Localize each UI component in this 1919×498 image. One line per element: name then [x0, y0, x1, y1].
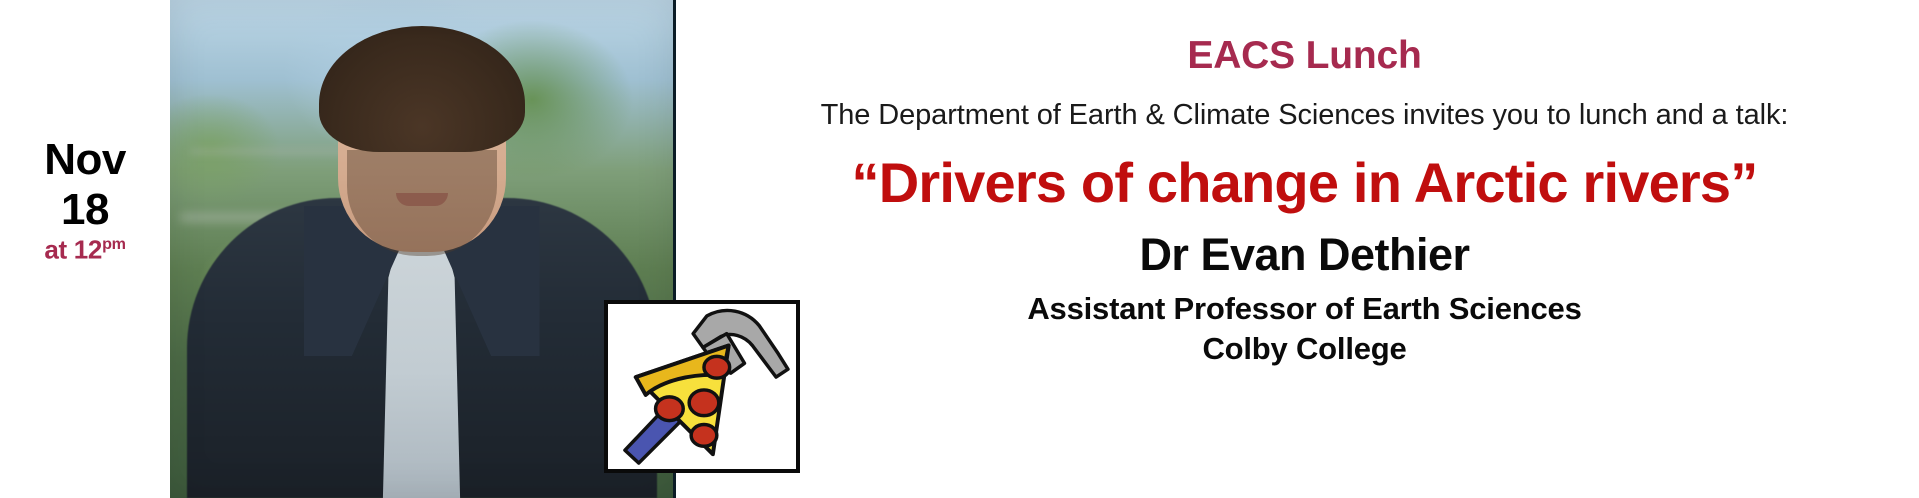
- event-time-meridiem: pm: [102, 235, 126, 253]
- speaker-photo: [170, 0, 676, 498]
- event-month: Nov: [0, 138, 170, 182]
- pepperoni-icon: [656, 397, 684, 421]
- speaker-name: Dr Evan Dethier: [690, 229, 1919, 281]
- event-time-value: at 12: [44, 235, 102, 265]
- event-poster: Nov 18 at 12pm: [0, 0, 1919, 498]
- poster-text-column: EACS Lunch The Department of Earth & Cli…: [690, 0, 1919, 498]
- event-series-title: EACS Lunch: [690, 34, 1919, 78]
- talk-title: “Drivers of change in Arctic rivers”: [690, 150, 1919, 215]
- event-day: 18: [0, 188, 170, 232]
- event-time: at 12pm: [0, 236, 170, 263]
- speaker-institution: Colby College: [690, 331, 1919, 367]
- speaker-position: Assistant Professor of Earth Sciences: [690, 291, 1919, 327]
- photo-person-mouth: [396, 193, 448, 206]
- event-date-block: Nov 18 at 12pm: [0, 138, 170, 263]
- invitation-line: The Department of Earth & Climate Scienc…: [690, 99, 1919, 132]
